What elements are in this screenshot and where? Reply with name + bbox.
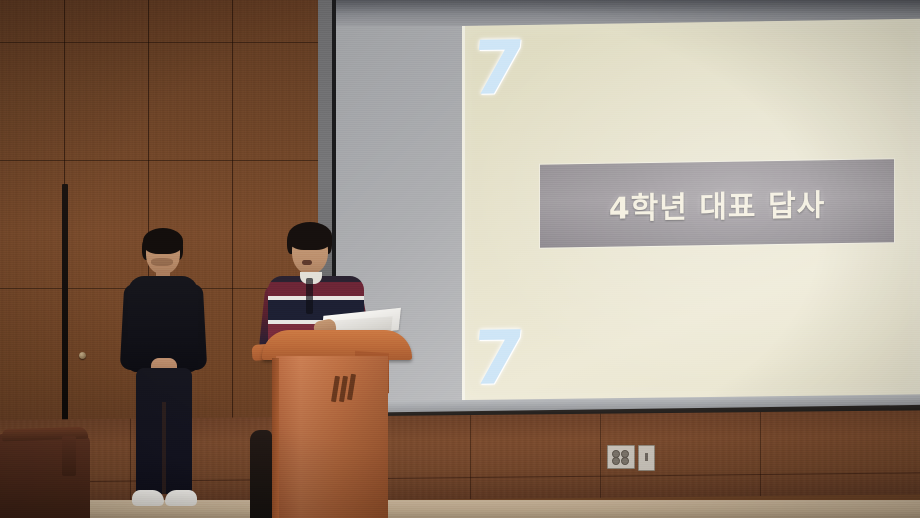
lower-wall-seam: [470, 415, 471, 499]
podium-shading: [276, 356, 388, 518]
lower-wall-seam: [760, 412, 761, 496]
leg-gap: [162, 402, 166, 494]
hair: [288, 222, 332, 250]
quad-outlet-plate[interactable]: [607, 445, 635, 469]
wall-seam: [0, 160, 330, 161]
hair: [143, 228, 183, 254]
bench-post: [62, 436, 76, 476]
zip-placket: [306, 278, 313, 314]
partially-hidden-figure: [250, 430, 272, 518]
door-gap: [62, 184, 68, 434]
shoe-right: [165, 490, 197, 506]
seven-decoration-icon: 7: [468, 31, 527, 106]
podium-body: [276, 356, 388, 518]
person-standing-left: [118, 232, 210, 518]
seven-decoration-icon: 7: [468, 321, 527, 396]
wooden-bench: [0, 432, 90, 518]
wall-seam: [0, 42, 330, 43]
face-shadow: [151, 258, 173, 266]
single-outlet-plate[interactable]: [638, 445, 655, 471]
outlet-socket: [612, 457, 620, 465]
slide-title: 4학년 대표 답사: [609, 180, 825, 227]
slide-title-band: 4학년 대표 답사: [540, 159, 894, 248]
lower-wall-seam: [600, 414, 601, 498]
slide-left-edge: [462, 26, 465, 402]
outlet-socket: [621, 457, 629, 465]
podium-left-edge: [272, 358, 279, 518]
projected-slide: 7 7 4학년 대표 답사: [462, 19, 920, 402]
shoe-left: [132, 490, 164, 506]
outlet-slot: [645, 453, 648, 461]
mouth: [302, 260, 312, 265]
presentation-photo: 7 7 4학년 대표 답사: [0, 0, 920, 518]
door-knob[interactable]: [79, 352, 86, 359]
